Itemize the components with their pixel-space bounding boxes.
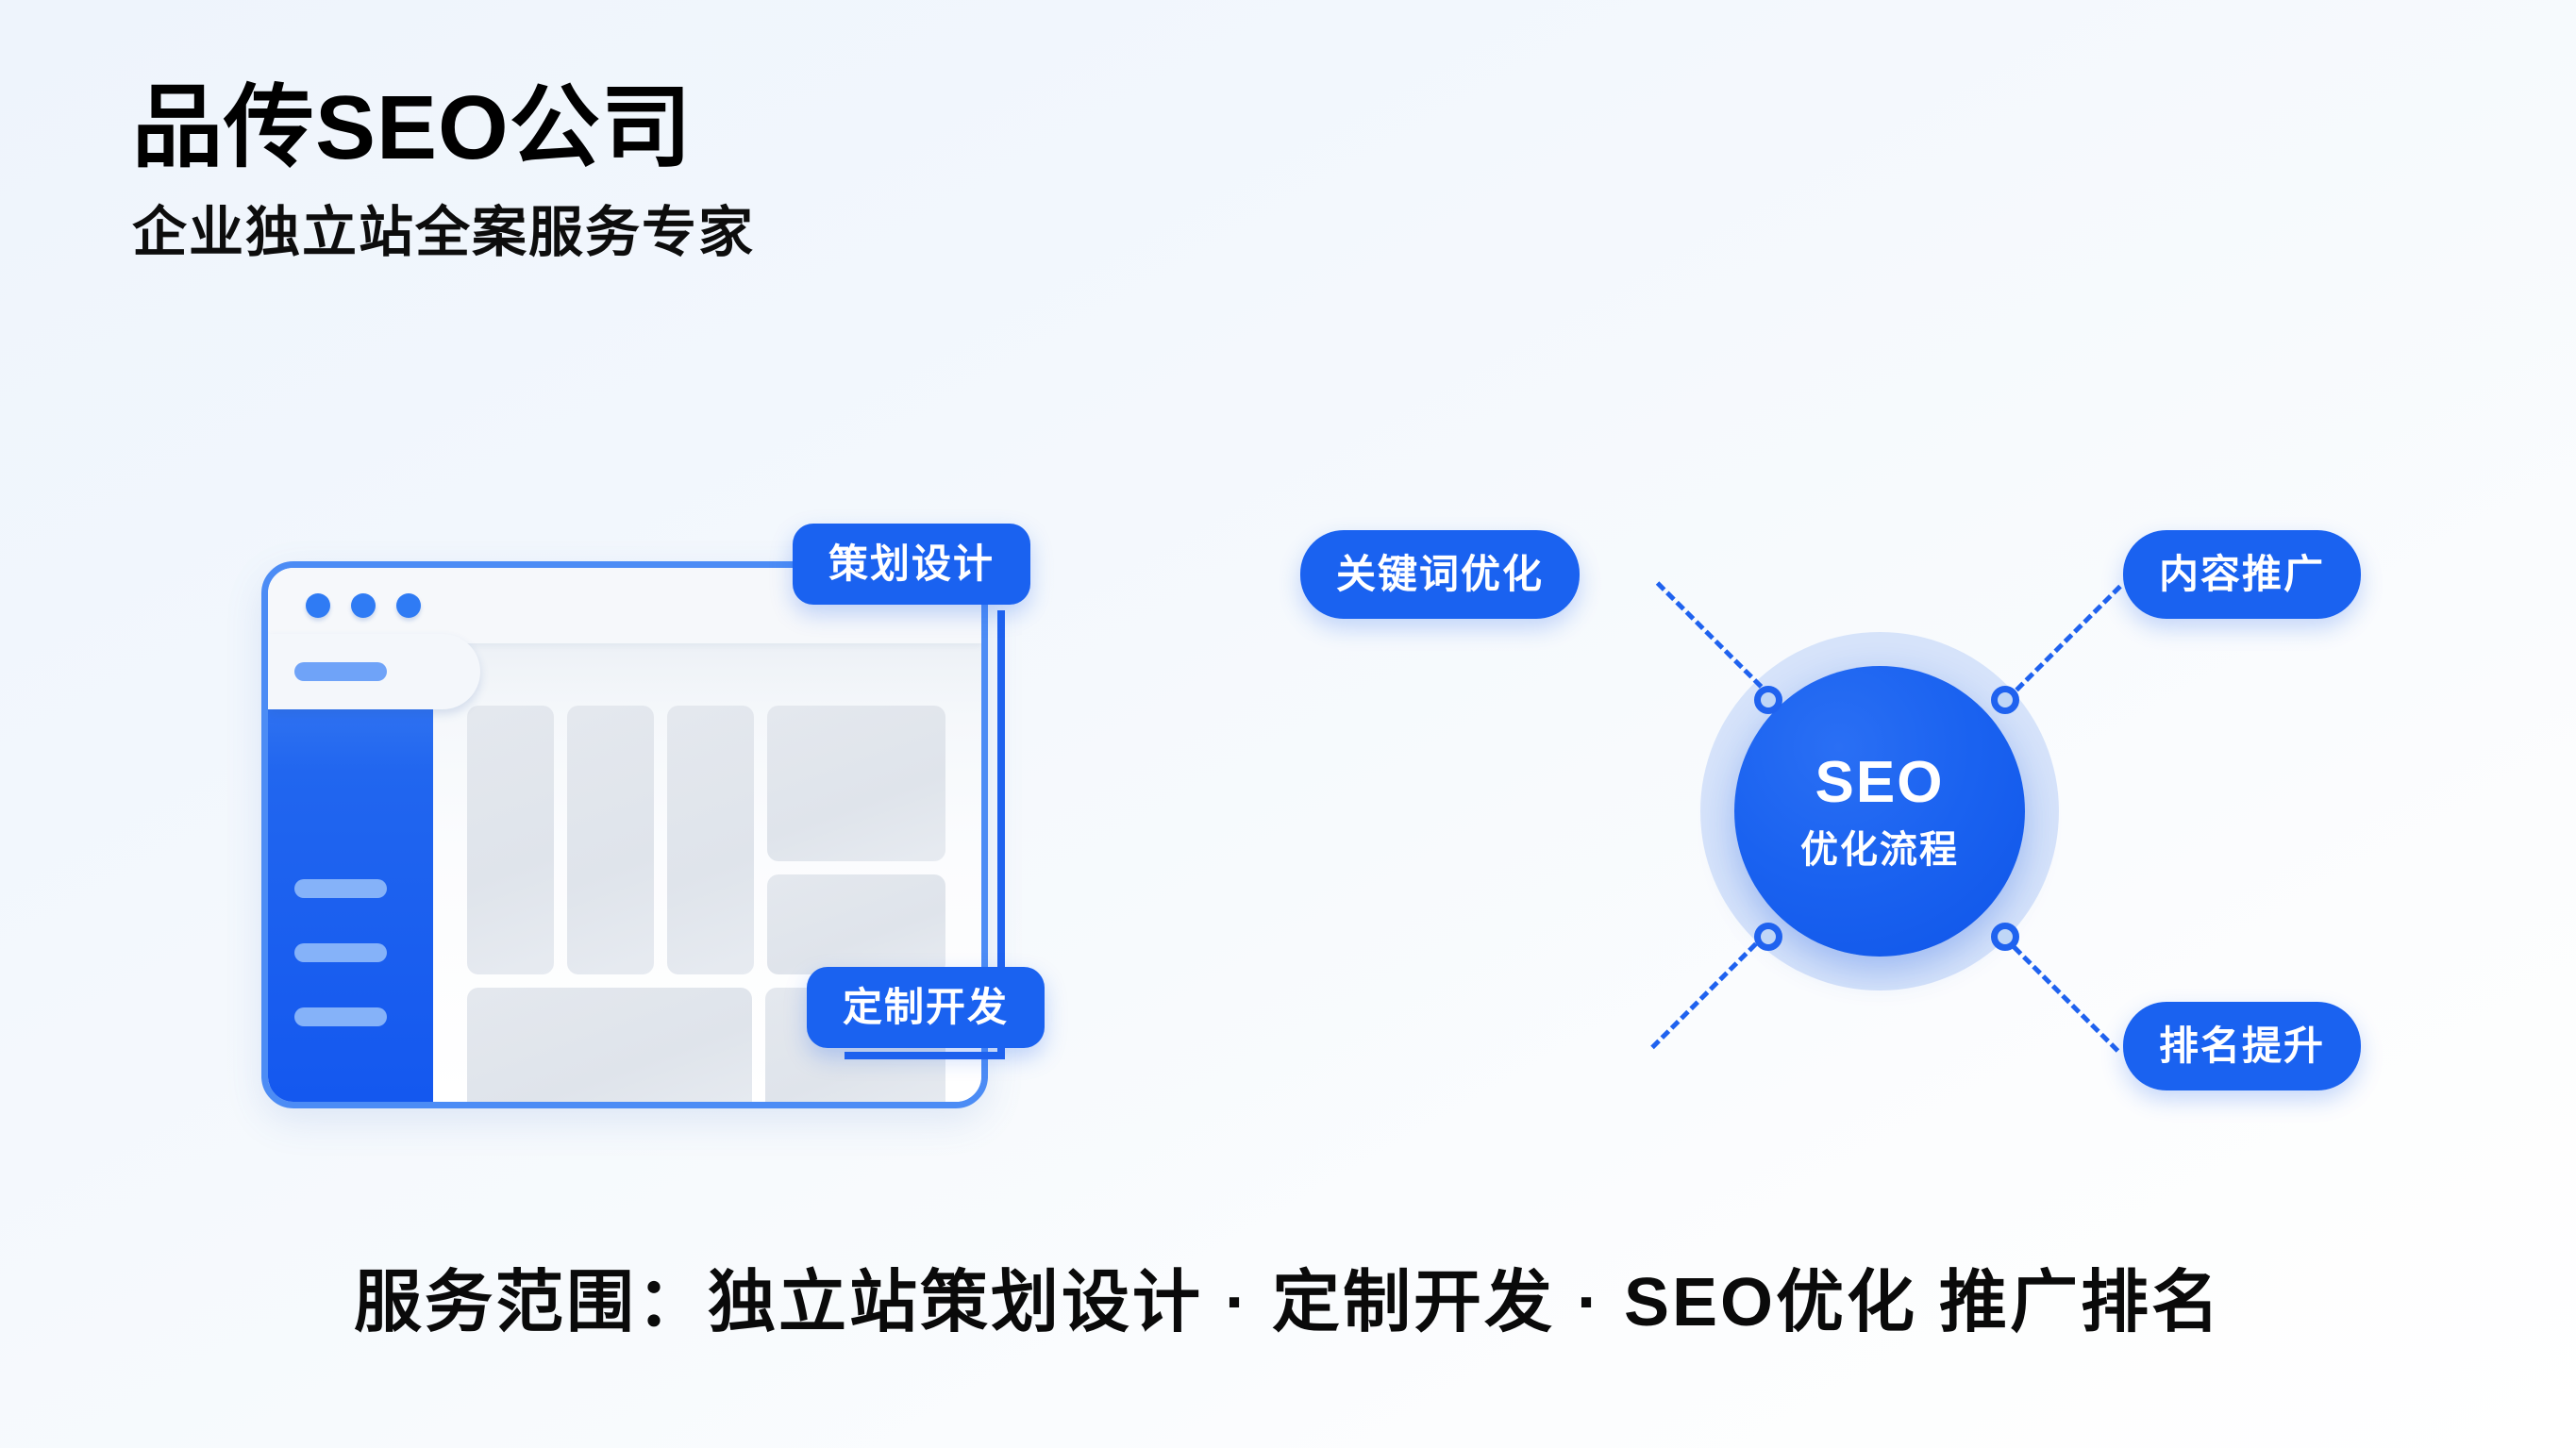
window-dot-minimize-icon	[351, 593, 376, 618]
sidebar-item-2[interactable]	[294, 943, 387, 962]
seo-label-keyword-optimization[interactable]: 关键词优化	[1300, 530, 1580, 619]
brand-header: 品传SEO公司 企业独立站全案服务专家	[132, 83, 1453, 260]
service-scope-text: 服务范围：独立站策划设计 · 定制开发 · SEO优化 推广排名	[0, 1269, 2576, 1337]
connector-line-bottom-left	[1650, 932, 1767, 1049]
seo-core-subtitle: 优化流程	[1800, 831, 1959, 869]
tag-custom-development[interactable]: 定制开发	[807, 967, 1045, 1048]
seo-node-top-left-icon	[1754, 686, 1782, 714]
content-block-right-bottom	[767, 874, 945, 974]
seo-label-content-promotion[interactable]: 内容推广	[2123, 530, 2361, 619]
content-block-bottom-left	[467, 988, 752, 1108]
seo-node-bottom-right-icon	[1991, 923, 2019, 951]
seo-process-diagram: SEO 优化流程 关键词优化 内容推广 排名提升	[1293, 509, 2501, 1132]
sidebar-item-active-bar	[294, 662, 387, 681]
seo-label-ranking-improvement[interactable]: 排名提升	[2123, 1002, 2361, 1090]
sidebar-item-1[interactable]	[294, 879, 387, 898]
connector-line-top-right	[2005, 585, 2122, 702]
content-grid-right	[767, 706, 945, 974]
connector-line-top-left	[1656, 581, 1773, 698]
page-subtitle: 企业独立站全案服务专家	[132, 206, 1453, 260]
seo-node-top-right-icon	[1991, 686, 2019, 714]
content-block-col-2	[567, 706, 654, 974]
window-dot-maximize-icon	[396, 593, 421, 618]
tag-planning-design[interactable]: 策划设计	[793, 524, 1030, 605]
seo-node-bottom-left-icon	[1754, 923, 1782, 951]
sidebar-item-3[interactable]	[294, 1007, 387, 1026]
browser-sidebar	[268, 643, 433, 1102]
sidebar-item-active[interactable]	[268, 634, 480, 709]
content-block-col-3	[667, 706, 754, 974]
window-dot-close-icon	[306, 593, 330, 618]
connector-line-bottom-right	[2002, 936, 2119, 1053]
seo-core-title: SEO	[1815, 754, 1945, 812]
content-block-right-top	[767, 706, 945, 861]
footer-banner: 服务范围：独立站策划设计 · 定制开发 · SEO优化 推广排名	[0, 1269, 2576, 1337]
content-grid-top	[467, 706, 945, 974]
tag-connector-rail-foot	[845, 1052, 1005, 1059]
page-title: 品传SEO公司	[132, 83, 1453, 174]
browser-illustration: 策划设计 定制开发	[241, 524, 1128, 1127]
content-block-col-1	[467, 706, 554, 974]
